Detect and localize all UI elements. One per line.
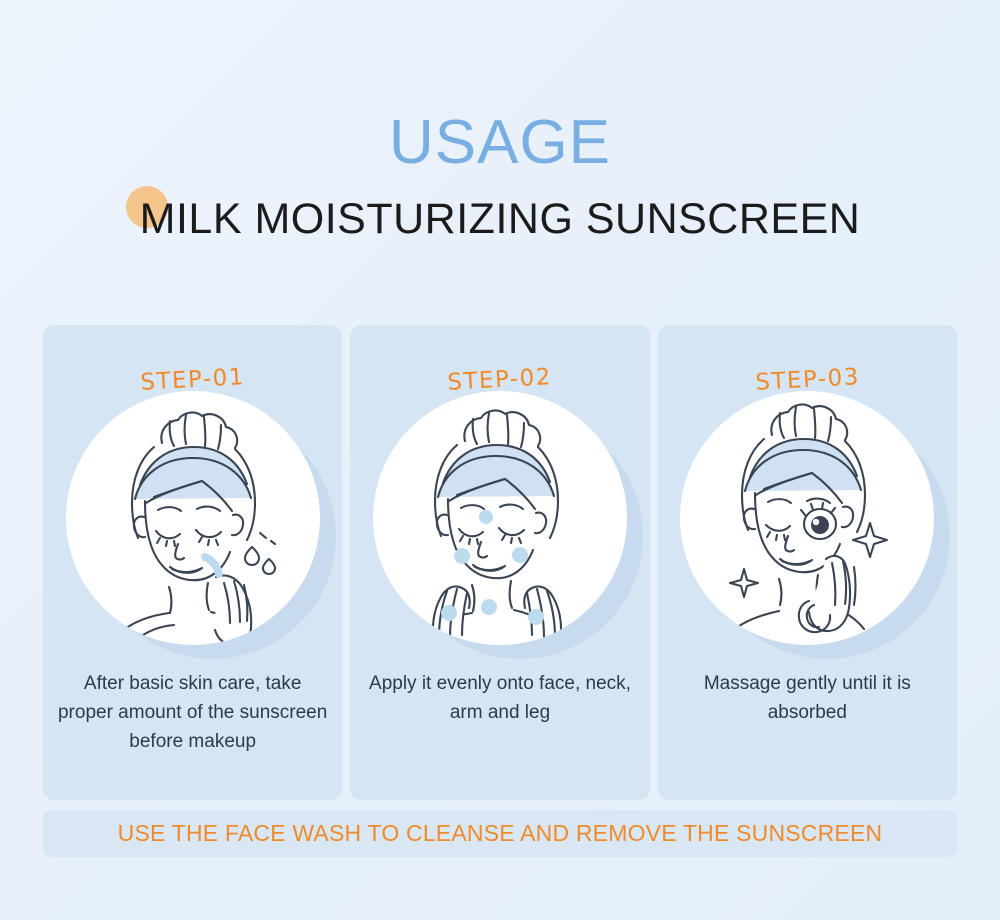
subtitle-wrap: MILK MOISTURIZING SUNSCREEN bbox=[140, 198, 861, 241]
product-subtitle: MILK MOISTURIZING SUNSCREEN bbox=[140, 195, 861, 243]
circle-white bbox=[680, 391, 934, 645]
circle-white bbox=[66, 391, 320, 645]
step-caption-3: Massage gently until it is absorbed bbox=[672, 670, 943, 728]
circle-white bbox=[373, 391, 627, 645]
step-caption-1: After basic skin care, take proper amoun… bbox=[57, 670, 328, 757]
header: USAGE MILK MOISTURIZING SUNSCREEN bbox=[0, 112, 1000, 241]
step-card-3[interactable]: STEP-03 bbox=[658, 325, 957, 800]
step-caption-2: Apply it evenly onto face, neck, arm and… bbox=[364, 670, 635, 728]
cleanse-banner: USE THE FACE WASH TO CLEANSE AND REMOVE … bbox=[43, 810, 957, 857]
step-illustration-1 bbox=[66, 391, 320, 645]
step-illustration-3 bbox=[680, 391, 934, 645]
step-card-1[interactable]: STEP-01 bbox=[43, 325, 342, 800]
step-card-2[interactable]: STEP-02 bbox=[350, 325, 649, 800]
step-illustration-2 bbox=[373, 391, 627, 645]
step-cards: STEP-01 bbox=[43, 325, 957, 800]
page-title: USAGE bbox=[0, 112, 1000, 174]
usage-infographic: USAGE MILK MOISTURIZING SUNSCREEN STEP-0… bbox=[0, 0, 1000, 920]
cleanse-banner-text: USE THE FACE WASH TO CLEANSE AND REMOVE … bbox=[118, 820, 883, 847]
